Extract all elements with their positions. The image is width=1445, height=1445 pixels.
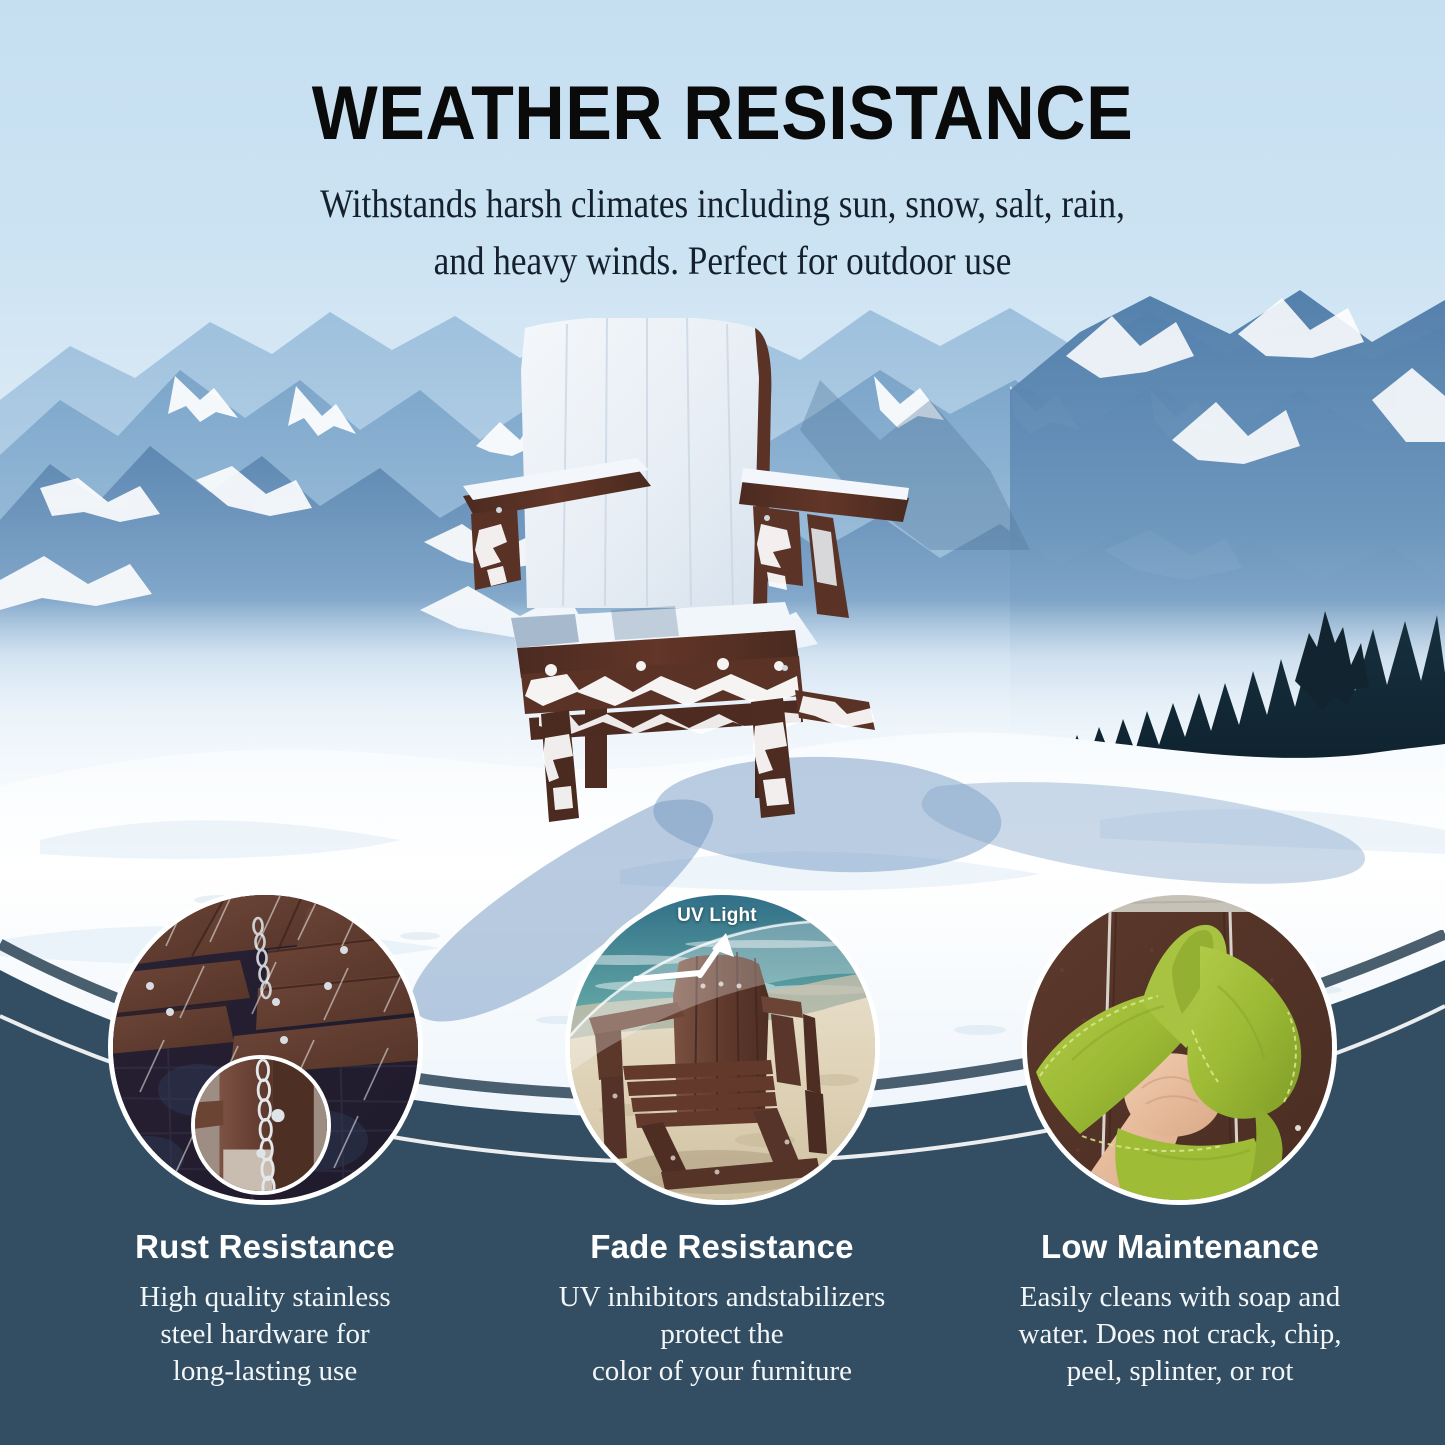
hero-snow-covered-chair xyxy=(455,318,935,838)
feature-body-maintenance: Easily cleans with soap and water. Does … xyxy=(960,1279,1400,1390)
feature-body-rust-line-2: steel hardware for xyxy=(45,1316,485,1353)
feature-caption-fade-resistance: Fade Resistance UV inhibitors andstabili… xyxy=(502,1228,942,1390)
page-title: WEATHER RESISTANCE xyxy=(58,76,1387,152)
uv-light-arrow-icon xyxy=(630,927,760,997)
feature-body-fade-line-2: protect the xyxy=(502,1316,942,1353)
feature-body-fade: UV inhibitors andstabilizers protect the… xyxy=(502,1279,942,1390)
page-subtitle-line-1: Withstands harsh climates including sun,… xyxy=(87,176,1359,233)
feature-body-maintenance-line-3: peel, splinter, or rot xyxy=(960,1353,1400,1390)
feature-body-rust: High quality stainless steel hardware fo… xyxy=(45,1279,485,1390)
feature-title-fade: Fade Resistance xyxy=(502,1228,942,1266)
feature-image-fade-resistance: UV Light xyxy=(565,890,880,1205)
feature-body-maintenance-line-1: Easily cleans with soap and xyxy=(960,1279,1400,1316)
uv-light-label: UV Light xyxy=(622,905,812,927)
feature-image-rust-resistance xyxy=(108,890,423,1205)
chain-detail-inset xyxy=(191,1055,331,1195)
feature-body-rust-line-3: long-lasting use xyxy=(45,1353,485,1390)
page-subtitle: Withstands harsh climates including sun,… xyxy=(87,176,1359,290)
feature-caption-rust-resistance: Rust Resistance High quality stainless s… xyxy=(45,1228,485,1390)
feature-body-rust-line-1: High quality stainless xyxy=(45,1279,485,1316)
page-subtitle-line-2: and heavy winds. Perfect for outdoor use xyxy=(87,233,1359,290)
feature-body-fade-line-1: UV inhibitors andstabilizers xyxy=(502,1279,942,1316)
feature-body-fade-line-3: color of your furniture xyxy=(502,1353,942,1390)
feature-caption-low-maintenance: Low Maintenance Easily cleans with soap … xyxy=(960,1228,1400,1390)
feature-title-maintenance: Low Maintenance xyxy=(960,1228,1400,1266)
feature-title-rust: Rust Resistance xyxy=(45,1228,485,1266)
feature-image-low-maintenance xyxy=(1022,890,1337,1205)
feature-body-maintenance-line-2: water. Does not crack, chip, xyxy=(960,1316,1400,1353)
weather-resistance-infographic: UV Light xyxy=(0,0,1445,1445)
